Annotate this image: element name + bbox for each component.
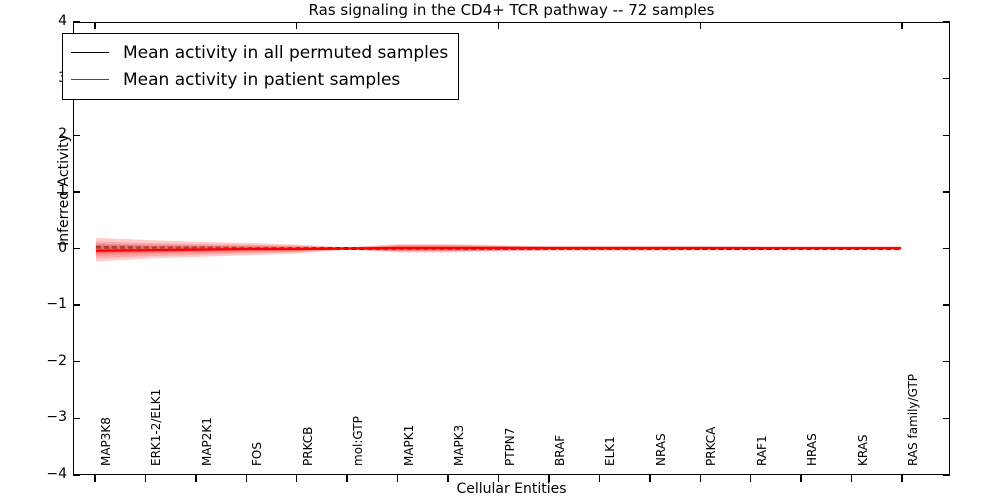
x-tick-mark — [700, 475, 701, 482]
y-tick-label: 4 — [19, 14, 67, 28]
legend-line-swatch-permuted — [71, 52, 109, 53]
x-tick-mark — [901, 475, 902, 482]
y-tick-label: 3 — [19, 71, 67, 85]
legend-line-swatch-patient — [71, 79, 109, 80]
y-tick-label: −2 — [19, 354, 67, 368]
legend: Mean activity in all permuted samples Me… — [62, 33, 459, 100]
y-tick-label: 1 — [19, 184, 67, 198]
legend-item: Mean activity in all permuted samples — [71, 39, 448, 66]
x-tick-mark — [498, 475, 499, 482]
x-tick-mark — [599, 475, 600, 482]
x-tick-mark — [851, 475, 852, 482]
x-tick-mark — [548, 475, 549, 482]
x-axis-label: Cellular Entities — [73, 481, 950, 497]
x-tick-mark — [246, 475, 247, 482]
x-tick-mark — [800, 475, 801, 482]
x-tick-mark — [94, 475, 95, 482]
y-tick-label: −1 — [19, 297, 67, 311]
x-tick-mark — [649, 475, 650, 482]
legend-label-permuted: Mean activity in all permuted samples — [123, 43, 448, 63]
x-tick-mark — [750, 475, 751, 482]
y-tick-label: 2 — [19, 127, 67, 141]
y-tick-label: −4 — [19, 467, 67, 481]
legend-label-patient: Mean activity in patient samples — [123, 70, 400, 90]
y-tick-label: 0 — [19, 241, 67, 255]
x-tick-mark — [346, 475, 347, 482]
chart-title: Ras signaling in the CD4+ TCR pathway --… — [73, 1, 950, 19]
figure: Ras signaling in the CD4+ TCR pathway --… — [0, 0, 1000, 500]
x-tick-mark — [447, 475, 448, 482]
x-tick-mark — [296, 475, 297, 482]
legend-item: Mean activity in patient samples — [71, 66, 448, 93]
x-tick-mark — [397, 475, 398, 482]
y-tick-label: −3 — [19, 410, 67, 424]
x-tick-mark — [195, 475, 196, 482]
x-tick-mark — [145, 475, 146, 482]
